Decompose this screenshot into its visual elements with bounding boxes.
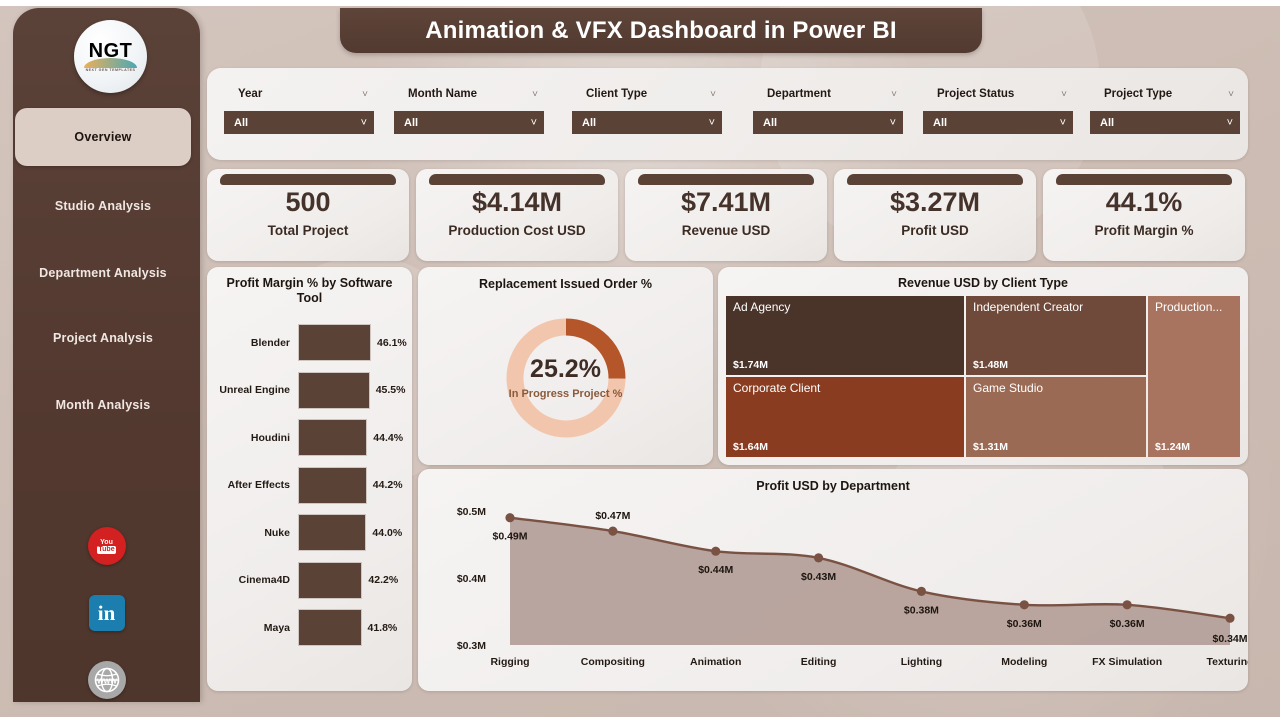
y-axis-tick-label: $0.5M <box>457 506 486 518</box>
treemap-tile-name: Corporate Client <box>733 381 960 395</box>
sidebar-item-label: Department Analysis <box>39 266 167 280</box>
chevron-down-icon: ˅ <box>531 117 537 129</box>
filter-month-name-select[interactable]: All ˅ <box>394 111 544 134</box>
chevron-down-icon: ˅ <box>1227 117 1233 129</box>
kpi-label: Profit USD <box>834 223 1036 238</box>
treemap-tile[interactable]: Production...$1.24M <box>1148 296 1240 457</box>
data-point-label: $0.36M <box>1110 618 1145 630</box>
filter-month-name: Month Name ˅ All ˅ <box>394 85 544 134</box>
treemap-grid: Ad Agency$1.74MCorporate Client$1.64MInd… <box>726 296 1240 457</box>
treemap-tile-value: $1.24M <box>1155 441 1190 453</box>
x-axis-category-label: Editing <box>801 656 837 668</box>
y-axis-tick-label: $0.3M <box>457 640 486 652</box>
data-point-marker[interactable] <box>711 547 720 556</box>
kpi-label: Profit Margin % <box>1043 223 1245 238</box>
data-point-marker[interactable] <box>608 527 617 536</box>
treemap-column: Independent Creator$1.48MGame Studio$1.3… <box>966 296 1146 457</box>
sidebar-item-label: Studio Analysis <box>55 199 151 213</box>
data-point-label: $0.47M <box>595 510 630 522</box>
kpi-card-profit-margin[interactable]: 44.1% Profit Margin % <box>1043 169 1245 261</box>
bar-value-label: 44.0% <box>366 527 402 539</box>
x-axis-category-label: Lighting <box>901 656 942 668</box>
filter-label: Project Status <box>937 88 1014 100</box>
donut-chart[interactable]: 25.2% In Progress Project % <box>503 315 629 441</box>
kpi-accent-bar <box>638 174 814 185</box>
kpi-value: 44.1% <box>1043 187 1245 218</box>
chart-revenue-by-client-type: Revenue USD by Client Type Ad Agency$1.7… <box>718 267 1248 465</box>
treemap-tile[interactable]: Game Studio$1.31M <box>966 377 1146 457</box>
data-point-marker[interactable] <box>814 553 823 562</box>
bar-value-label: 45.5% <box>370 384 406 396</box>
treemap-tile-name: Independent Creator <box>973 300 1142 314</box>
filter-year-select[interactable]: All ˅ <box>224 111 374 134</box>
bar-category-label: Unreal Engine <box>207 384 298 396</box>
bar-value-label: 42.2% <box>362 574 398 586</box>
bar-chart-rows: Blender46.1%Unreal Engine45.5%Houdini44.… <box>207 319 412 652</box>
donut-center-label: In Progress Project % <box>509 388 623 400</box>
chevron-down-icon[interactable]: ˅ <box>710 89 716 100</box>
kpi-value: $4.14M <box>416 187 618 218</box>
kpi-accent-bar <box>1056 174 1232 185</box>
treemap-column: Production...$1.24M <box>1148 296 1240 457</box>
data-point-marker[interactable] <box>1123 600 1132 609</box>
page-title: Animation & VFX Dashboard in Power BI <box>425 17 896 45</box>
sidebar-item-studio-analysis[interactable]: Studio Analysis <box>15 177 191 235</box>
filter-department: Department ˅ All ˅ <box>753 85 903 134</box>
chart-title: Profit USD by Department <box>418 469 1248 494</box>
bar-chart-row[interactable]: Unreal Engine45.5% <box>207 367 412 415</box>
data-point-marker[interactable] <box>505 513 514 522</box>
data-point-label: $0.36M <box>1007 618 1042 630</box>
linkedin-icon: in <box>89 595 125 631</box>
chevron-down-icon[interactable]: ˅ <box>891 89 897 100</box>
chart-title: Replacement Issued Order % <box>418 267 713 292</box>
bar-category-label: Houdini <box>207 432 298 444</box>
kpi-value: 500 <box>207 187 409 218</box>
bar-category-label: Blender <box>207 337 298 349</box>
filter-client-type: Client Type ˅ All ˅ <box>572 85 722 134</box>
filter-project-status-select[interactable]: All ˅ <box>923 111 1073 134</box>
x-axis-category-label: Modeling <box>1001 656 1047 668</box>
filter-bar: Year ˅ All ˅ Month Name ˅ All ˅ Client T… <box>207 68 1248 160</box>
bar-category-label: Cinema4D <box>207 574 298 586</box>
filter-project-type-select[interactable]: All ˅ <box>1090 111 1240 134</box>
bar-value-label: 44.4% <box>367 432 403 444</box>
chevron-down-icon: ˅ <box>361 117 367 129</box>
youtube-icon: You Tube <box>88 527 126 565</box>
x-axis-category-label: Animation <box>690 656 741 668</box>
chevron-down-icon: ˅ <box>890 117 896 129</box>
kpi-accent-bar <box>220 174 396 185</box>
page-title-banner: Animation & VFX Dashboard in Power BI <box>340 8 982 53</box>
treemap-column: Ad Agency$1.74MCorporate Client$1.64M <box>726 296 964 457</box>
x-axis-category-label: Rigging <box>490 656 529 668</box>
bar-chart-row[interactable]: Cinema4D42.2% <box>207 557 412 605</box>
bar-rect <box>298 372 370 409</box>
sidebar-item-label: Overview <box>74 130 131 144</box>
filter-value: All <box>933 117 947 129</box>
data-point-label: $0.44M <box>698 564 733 576</box>
filter-client-type-select[interactable]: All ˅ <box>572 111 722 134</box>
bar-rect <box>298 324 371 361</box>
bar-rect <box>298 562 362 599</box>
chart-profit-by-department: Profit USD by Department $0.5M$0.4M$0.3M… <box>418 469 1248 691</box>
bar-value-label: 46.1% <box>371 337 407 349</box>
chevron-down-icon[interactable]: ˅ <box>532 89 538 100</box>
sidebar-item-department-analysis[interactable]: Department Analysis <box>15 244 191 302</box>
treemap-tile[interactable]: Independent Creator$1.48M <box>966 296 1146 375</box>
bar-chart-row[interactable]: Nuke44.0% <box>207 509 412 557</box>
logo-subtext: NEXT GEN TEMPLATES <box>86 68 136 72</box>
kpi-label: Revenue USD <box>625 223 827 238</box>
bar-category-label: Maya <box>207 622 298 634</box>
chart-title: Profit Margin % by Software Tool <box>207 267 412 306</box>
linkedin-link[interactable]: in <box>87 593 127 633</box>
website-link[interactable]: WWW <box>87 660 127 700</box>
y-axis-tick-label: $0.4M <box>457 573 486 585</box>
treemap-tile-value: $1.31M <box>973 441 1008 453</box>
filter-year: Year ˅ All ˅ <box>224 85 374 134</box>
treemap-tile-name: Ad Agency <box>733 300 960 314</box>
filter-label: Project Type <box>1104 88 1172 100</box>
treemap-tile-value: $1.64M <box>733 441 768 453</box>
bar-rect <box>298 467 367 504</box>
filter-label: Client Type <box>586 88 647 100</box>
filter-department-select[interactable]: All ˅ <box>753 111 903 134</box>
bar-category-label: Nuke <box>207 527 298 539</box>
globe-icon: WWW <box>88 661 126 699</box>
filter-label: Month Name <box>408 88 477 100</box>
treemap-tile-name: Production... <box>1155 300 1236 314</box>
donut-center-labels: 25.2% In Progress Project % <box>503 315 629 441</box>
filter-project-type: Project Type ˅ All ˅ <box>1090 85 1240 134</box>
kpi-card-production-cost[interactable]: $4.14M Production Cost USD <box>416 169 618 261</box>
bar-value-label: 44.2% <box>367 479 403 491</box>
sidebar-item-label: Month Analysis <box>56 398 151 412</box>
chevron-down-icon[interactable]: ˅ <box>362 89 368 100</box>
chevron-down-icon[interactable]: ˅ <box>1228 89 1234 100</box>
treemap-tile[interactable]: Ad Agency$1.74M <box>726 296 964 375</box>
filter-label: Year <box>238 88 262 100</box>
chart-replacement-issued-order: Replacement Issued Order % 25.2% In Prog… <box>418 267 713 465</box>
youtube-icon-line1: You <box>100 539 113 546</box>
sidebar: NGT NEXT GEN TEMPLATES Overview Studio A… <box>13 8 200 702</box>
kpi-card-revenue[interactable]: $7.41M Revenue USD <box>625 169 827 261</box>
bar-rect <box>298 514 366 551</box>
sidebar-item-label: Project Analysis <box>53 331 153 345</box>
bar-chart-row[interactable]: Blender46.1% <box>207 319 412 367</box>
filter-project-status: Project Status ˅ All ˅ <box>923 85 1073 134</box>
kpi-label: Total Project <box>207 223 409 238</box>
x-axis-category-label: FX Simulation <box>1092 656 1162 668</box>
donut-center-value: 25.2% <box>530 357 601 382</box>
bar-value-label: 41.8% <box>362 622 398 634</box>
social-links: You Tube in WWW <box>13 526 200 702</box>
chevron-down-icon[interactable]: ˅ <box>1061 89 1067 100</box>
kpi-value: $7.41M <box>625 187 827 218</box>
data-point-marker[interactable] <box>917 587 926 596</box>
filter-value: All <box>404 117 418 129</box>
chevron-down-icon: ˅ <box>1060 117 1066 129</box>
treemap-tile-value: $1.48M <box>973 359 1008 371</box>
chart-title: Revenue USD by Client Type <box>718 267 1248 291</box>
bar-chart-row[interactable]: Maya41.8% <box>207 604 412 652</box>
chevron-down-icon: ˅ <box>709 117 715 129</box>
youtube-icon-line2: Tube <box>97 546 115 554</box>
bar-category-label: After Effects <box>207 479 298 491</box>
filter-label: Department <box>767 88 831 100</box>
bar-rect <box>298 419 367 456</box>
filter-value: All <box>763 117 777 129</box>
kpi-card-profit[interactable]: $3.27M Profit USD <box>834 169 1036 261</box>
svg-text:WWW: WWW <box>97 679 117 686</box>
data-point-label: $0.38M <box>904 604 939 616</box>
chart-profit-margin-by-software-tool: Profit Margin % by Software Tool Blender… <box>207 267 412 691</box>
youtube-link[interactable]: You Tube <box>87 526 127 566</box>
data-point-label: $0.49M <box>492 531 527 543</box>
kpi-label: Production Cost USD <box>416 223 618 238</box>
data-point-marker[interactable] <box>1225 614 1234 623</box>
bar-rect <box>298 609 362 646</box>
dashboard-canvas: NGT NEXT GEN TEMPLATES Overview Studio A… <box>0 6 1280 717</box>
data-point-label: $0.43M <box>801 571 836 583</box>
sidebar-item-overview[interactable]: Overview <box>15 108 191 166</box>
kpi-value: $3.27M <box>834 187 1036 218</box>
data-point-label: $0.34M <box>1212 633 1247 645</box>
sidebar-item-month-analysis[interactable]: Month Analysis <box>15 376 191 434</box>
treemap-tile-value: $1.74M <box>733 359 768 371</box>
kpi-accent-bar <box>429 174 605 185</box>
filter-value: All <box>1100 117 1114 129</box>
treemap-tile[interactable]: Corporate Client$1.64M <box>726 377 964 457</box>
kpi-accent-bar <box>847 174 1023 185</box>
area-chart-svg[interactable]: $0.5M$0.4M$0.3M$0.49M$0.47M$0.44M$0.43M$… <box>418 493 1248 691</box>
filter-value: All <box>234 117 248 129</box>
bar-chart-row[interactable]: Houdini44.4% <box>207 414 412 462</box>
data-point-marker[interactable] <box>1020 600 1029 609</box>
sidebar-item-project-analysis[interactable]: Project Analysis <box>15 309 191 367</box>
x-axis-category-label: Compositing <box>581 656 645 668</box>
filter-value: All <box>582 117 596 129</box>
brand-logo: NGT NEXT GEN TEMPLATES <box>74 20 147 93</box>
kpi-card-total-project[interactable]: 500 Total Project <box>207 169 409 261</box>
x-axis-category-label: Texturing <box>1206 656 1248 668</box>
treemap-tile-name: Game Studio <box>973 381 1142 395</box>
bar-chart-row[interactable]: After Effects44.2% <box>207 462 412 510</box>
